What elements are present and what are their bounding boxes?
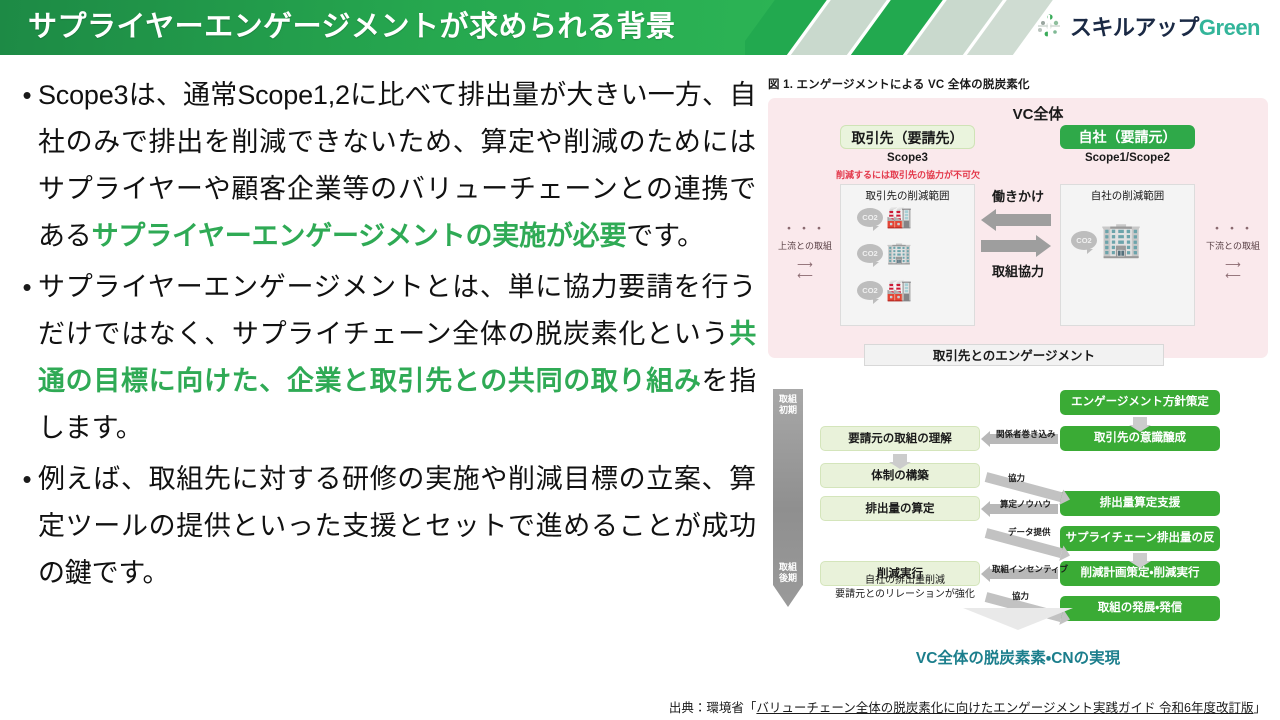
timeline-label-late: 取組 後期 xyxy=(773,562,803,584)
bullet-highlight: サプライヤーエンゲージメントの実施が必要 xyxy=(92,221,627,251)
upstream-side: ・・・ 上流との取組 ⟶⟵ xyxy=(770,218,840,282)
scope-label-supplier: Scope3 xyxy=(840,152,975,164)
figure-caption: 図 1. エンゲージメントによる VC 全体の脱炭素化 xyxy=(768,76,1268,92)
scope-label-own-company: Scope1/Scope2 xyxy=(1060,152,1195,164)
bullet-span: です。 xyxy=(626,221,704,251)
flow-box-sc-reflection: サプライチェーン排出量の反映 xyxy=(1060,526,1220,551)
arrow-label-torikumikyouryoku: 取組協力 xyxy=(981,261,1055,280)
building-icon: 🏢 xyxy=(886,243,912,264)
page-title: サプライヤーエンゲージメントが求められる背景 xyxy=(28,7,676,47)
office-building-icon: 🏢 xyxy=(1100,223,1142,257)
factory-icon: 🏭 xyxy=(886,207,912,228)
factory-icon: 🏭 xyxy=(886,280,912,301)
range-label-supplier: 取引先の削減範囲 xyxy=(841,188,974,203)
connector-down-1 xyxy=(1133,417,1147,425)
connector-down-2 xyxy=(1133,553,1147,561)
engagement-bar: 取引先とのエンゲージメント xyxy=(864,344,1164,366)
co2-own-building-row: CO2 🏢 xyxy=(1071,223,1142,257)
logo-text-en: Green xyxy=(1199,15,1260,41)
flow-box-understanding: 要請元の取組の理解 xyxy=(820,426,980,451)
flow-box-calc-support: 排出量算定支援 xyxy=(1060,491,1220,516)
timeline-label-early: 取組 初期 xyxy=(773,394,803,416)
downstream-arrows-icon: ⟶⟵ xyxy=(1198,260,1268,282)
bullet-marker: • xyxy=(16,72,38,260)
reduction-range-supplier: 取引先の削減範囲 CO2 🏭 CO2 🏢 CO2 🏭 xyxy=(840,184,975,326)
source-suffix: 」 xyxy=(1253,701,1266,715)
party-tag-supplier: 取引先（要請先） xyxy=(840,125,975,149)
edge-label-data: データ提供 xyxy=(1008,526,1051,538)
downstream-label: 下流との取組 xyxy=(1198,239,1268,252)
upstream-arrows-icon: ⟶⟵ xyxy=(770,260,840,282)
source-prefix: 出典：環境省「 xyxy=(669,701,757,715)
source-link[interactable]: バリューチェーン全体の脱炭素化に向けたエンゲージメント実践ガイド 令和6年度改訂… xyxy=(756,701,1253,715)
timeline-early-l2: 初期 xyxy=(779,405,797,415)
co2-factory-row: CO2 🏭 xyxy=(857,207,912,228)
bullet-text: Scope3は、通常Scope1,2に比べて排出量が大きい一方、自社のみで排出を… xyxy=(38,72,756,260)
logo-text-jp: スキルアップ xyxy=(1070,10,1199,42)
timeline-early-l1: 取組 xyxy=(779,394,797,404)
warning-text: 削減するには取引先の協力が不可欠 xyxy=(828,168,988,181)
arrow-left-icon xyxy=(981,209,1051,231)
bullet-list: • Scope3は、通常Scope1,2に比べて排出量が大きい一方、自社のみで排… xyxy=(16,72,756,601)
upstream-label: 上流との取組 xyxy=(770,239,840,252)
timeline-late-l1: 取組 xyxy=(779,562,797,572)
edge-label-incentive: 取組インセンティブ xyxy=(992,563,1068,575)
party-tag-own-company: 自社（要請元） xyxy=(1060,125,1195,149)
edge-label-stakeholder: 関係者巻き込み xyxy=(996,428,1056,440)
logo-wordmark: スキルアップGreen xyxy=(1070,10,1260,42)
connector-down-3 xyxy=(893,454,907,462)
bullet-span: 例えば、取組先に対する研修の実施や削減目標の立案、算定ツールの提供といった支援と… xyxy=(38,464,756,588)
bullet-text: サプライヤーエンゲージメントとは、単に協力要請を行うだけではなく、サプライチェー… xyxy=(38,264,756,452)
co2-bubble-icon: CO2 xyxy=(857,244,883,263)
engagement-arrows: 働きかけ 取組協力 xyxy=(981,186,1055,280)
edge-label-knowhow: 算定ノウハウ xyxy=(1000,498,1051,510)
upstream-dots: ・・・ xyxy=(770,218,840,237)
source-line: 出典：環境省「バリューチェーン全体の脱炭素化に向けたエンゲージメント実践ガイド … xyxy=(669,697,1266,716)
flow-note-line2: 要請元とのリレーションが強化 xyxy=(835,589,975,600)
co2-bubble-icon: CO2 xyxy=(857,281,883,300)
brand-logo: スキルアップGreen xyxy=(1034,9,1260,43)
slide: サプライヤーエンゲージメントが求められる背景 スキルアップGreen xyxy=(0,0,1280,720)
bullet-item: • サプライヤーエンゲージメントとは、単に協力要請を行うだけではなく、サプライチ… xyxy=(16,264,756,452)
slide-header: サプライヤーエンゲージメントが求められる背景 スキルアップGreen xyxy=(0,0,1280,55)
flow-diagram: 取組 初期 取組 後期 エンゲージメント方針策定 取引先の意識醸成 排出量算定支… xyxy=(768,386,1268,636)
reduction-range-own-company: 自社の削減範囲 CO2 🏢 xyxy=(1060,184,1195,326)
result-text: VC全体の脱炭素素・CNの実現 xyxy=(768,646,1268,668)
flow-box-calculation: 排出量の算定 xyxy=(820,496,980,521)
co2-bubble-icon: CO2 xyxy=(1071,231,1097,250)
bullet-marker: • xyxy=(16,264,38,452)
flow-note: 自社の排出量削減 要請元とのリレーションが強化 xyxy=(820,574,990,602)
figure-panel: 図 1. エンゲージメントによる VC 全体の脱炭素化 VC全体 取引先（要請先… xyxy=(768,76,1268,676)
arrow-right-icon xyxy=(981,235,1051,257)
bullet-text: 例えば、取組先に対する研修の実施や削減目標の立案、算定ツールの提供といった支援と… xyxy=(38,456,756,597)
range-label-own-company: 自社の削減範囲 xyxy=(1061,188,1194,203)
co2-bubble-icon: CO2 xyxy=(857,208,883,227)
flow-box-policy: エンゲージメント方針策定 xyxy=(1060,390,1220,415)
vc-title: VC全体 xyxy=(768,103,1268,124)
timeline-late-l2: 後期 xyxy=(779,573,797,583)
bullet-item: • 例えば、取組先に対する研修の実施や削減目標の立案、算定ツールの提供といった支… xyxy=(16,456,756,597)
flow-note-line1: 自社の排出量削減 xyxy=(865,575,945,586)
edge-label-cooperation-1: 協力 xyxy=(1008,472,1025,484)
header-diagonal-stripes xyxy=(745,0,1075,55)
edge-label-cooperation-2: 協力 xyxy=(1012,590,1029,602)
downstream-dots: ・・・ xyxy=(1198,218,1268,237)
bullet-span: サプライヤーエンゲージメントとは、単に協力要請を行うだけではなく、サプライチェー… xyxy=(38,272,756,349)
co2-factory-row-2: CO2 🏭 xyxy=(857,280,912,301)
co2-building-row: CO2 🏢 xyxy=(857,243,912,264)
vc-overview-box: VC全体 取引先（要請先） Scope3 削減するには取引先の協力が不可欠 自社… xyxy=(768,98,1268,358)
scatter-dots-icon xyxy=(1034,11,1064,41)
arrow-label-hatarakikake: 働きかけ xyxy=(981,186,1055,205)
bullet-marker: • xyxy=(16,456,38,597)
vc-title-text: VC全体 xyxy=(1013,106,1064,123)
flow-box-development: 取組の発展・発信 xyxy=(1060,596,1220,621)
downstream-side: ・・・ 下流との取組 ⟶⟵ xyxy=(1198,218,1268,282)
bullet-item: • Scope3は、通常Scope1,2に比べて排出量が大きい一方、自社のみで排… xyxy=(16,72,756,260)
